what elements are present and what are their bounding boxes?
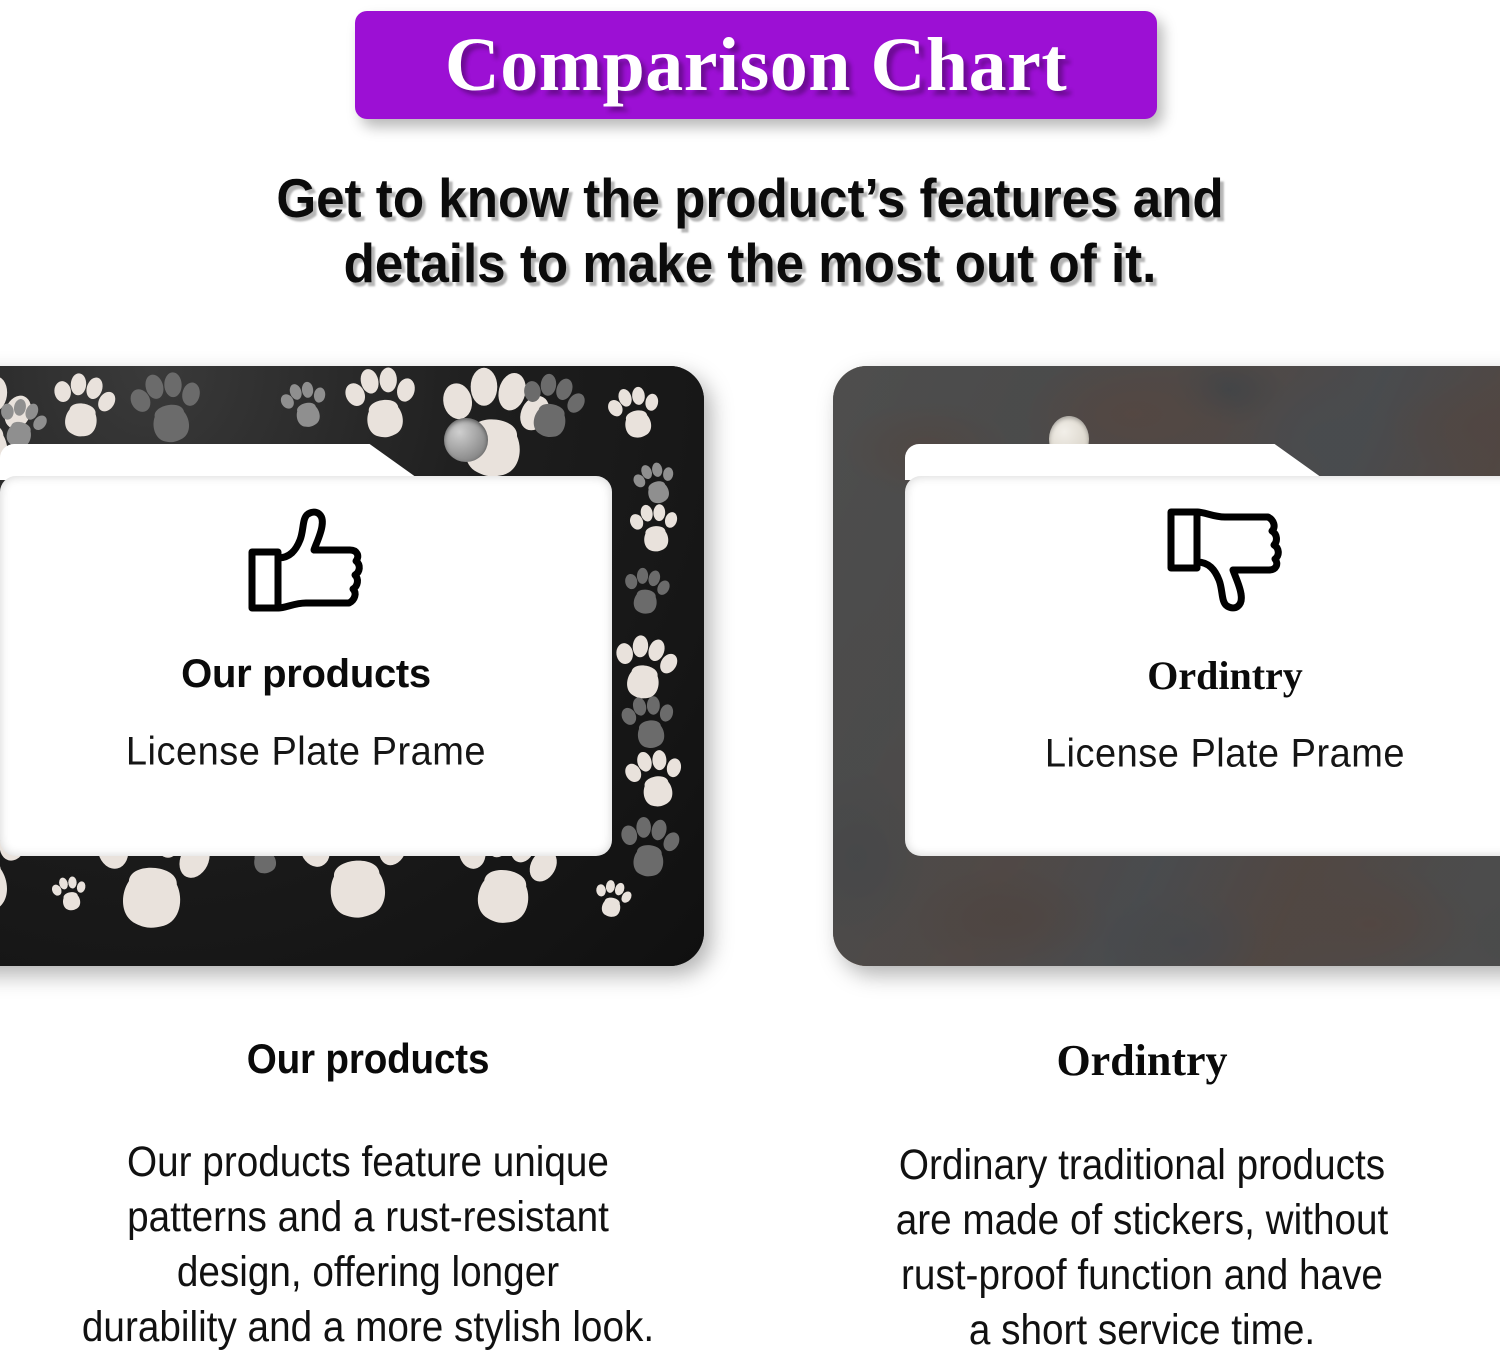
- description-line: design, offering longer: [71, 1245, 665, 1300]
- description-line: patterns and a rust-resistant: [71, 1190, 665, 1245]
- thumbs-down-icon: [1165, 504, 1285, 616]
- our-product-plate-content: Our products License Plate Prame: [0, 476, 612, 856]
- our-product-column: Our products Our products feature unique…: [38, 1035, 698, 1355]
- subtitle-line-1: Get to know the product’s features and: [53, 166, 1448, 231]
- our-product-column-heading: Our products: [64, 1035, 671, 1083]
- description-line: Ordinary traditional products: [845, 1138, 1439, 1193]
- description-line: durability and a more stylish look.: [71, 1300, 665, 1355]
- ordinary-product-column-heading: Ordintry: [812, 1035, 1472, 1086]
- description-line: a short service time.: [845, 1303, 1439, 1358]
- our-product-plate-heading: Our products: [181, 652, 431, 697]
- plate-window-notch: [0, 444, 420, 480]
- ordinary-product-frame-photo: Ordintry License Plate Prame: [833, 366, 1500, 966]
- subtitle-line-2: details to make the most out of it.: [53, 231, 1448, 296]
- ordinary-product-plate-heading: Ordintry: [1147, 652, 1303, 699]
- our-product-frame-photo: Our products License Plate Prame: [0, 366, 704, 966]
- thumbs-up-icon: [246, 504, 366, 616]
- ordinary-product-description: Ordinary traditional products are made o…: [845, 1138, 1439, 1358]
- description-line: rust-proof function and have: [845, 1248, 1439, 1303]
- description-line: are made of stickers, without: [845, 1193, 1439, 1248]
- comparison-chart-banner: Comparison Chart: [355, 11, 1157, 119]
- mounting-screw-hole: [444, 418, 488, 462]
- description-line: Our products feature unique: [71, 1135, 665, 1190]
- ordinary-product-plate-content: Ordintry License Plate Prame: [905, 476, 1500, 856]
- page-title: Comparison Chart: [445, 27, 1067, 103]
- ordinary-product-column: Ordintry Ordinary traditional products a…: [812, 1035, 1472, 1358]
- our-product-description: Our products feature unique patterns and…: [71, 1135, 665, 1355]
- page-subtitle: Get to know the product’s features and d…: [53, 166, 1448, 296]
- ordinary-product-plate-subheading: License Plate Prame: [1045, 732, 1405, 778]
- plate-window-notch: [905, 444, 1325, 480]
- our-product-plate-subheading: License Plate Prame: [126, 730, 486, 776]
